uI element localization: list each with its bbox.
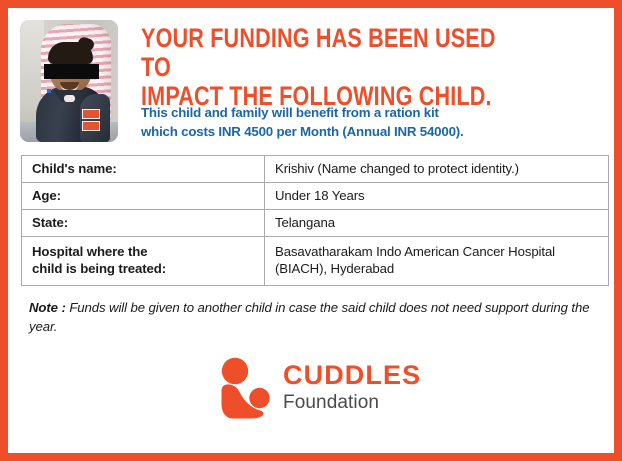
child-photo-image (20, 20, 118, 142)
table-row: Child's name: Krishiv (Name changed to p… (22, 156, 609, 183)
photo-shirt-patch-lower (82, 121, 100, 131)
mother-and-child-icon (211, 357, 277, 419)
note-body: Funds will be given to another child in … (29, 300, 589, 334)
row-value: Telangana (265, 210, 609, 237)
note-prefix: Note : (29, 300, 66, 315)
row-label: State: (22, 210, 265, 237)
funding-impact-card: YOUR FUNDING HAS BEEN USED TO IMPACT THE… (0, 0, 622, 461)
table-row: Age: Under 18 Years (22, 183, 609, 210)
photo-shoulder-dot (47, 89, 51, 93)
row-value: Basavatharakam Indo American Cancer Hosp… (265, 237, 609, 286)
photo-shirt-patch-upper (82, 109, 100, 119)
table-row: State: Telangana (22, 210, 609, 237)
privacy-bar (44, 64, 99, 79)
row-value: Under 18 Years (265, 183, 609, 210)
row-label: Hospital where the child is being treate… (22, 237, 265, 286)
logo-subtitle: Foundation (283, 391, 421, 415)
child-details-table: Child's name: Krishiv (Name changed to p… (21, 155, 609, 286)
subtitle: This child and family will benefit from … (141, 103, 611, 141)
row-label: Age: (22, 183, 265, 210)
cuddles-foundation-logo: CUDDLES Foundation (211, 357, 451, 421)
row-value: Krishiv (Name changed to protect identit… (265, 156, 609, 183)
page-title: YOUR FUNDING HAS BEEN USED TO IMPACT THE… (141, 24, 514, 111)
photo-child-hair (48, 42, 93, 64)
table-row: Hospital where the child is being treate… (22, 237, 609, 286)
note-text: Note : Funds will be given to another ch… (29, 298, 599, 336)
photo-child-dressing (64, 95, 75, 102)
card-header: YOUR FUNDING HAS BEEN USED TO IMPACT THE… (20, 20, 610, 146)
logo-wordmark: CUDDLES Foundation (283, 360, 421, 415)
row-label: Child's name: (22, 156, 265, 183)
logo-title: CUDDLES (283, 360, 421, 390)
child-photo (20, 20, 118, 142)
